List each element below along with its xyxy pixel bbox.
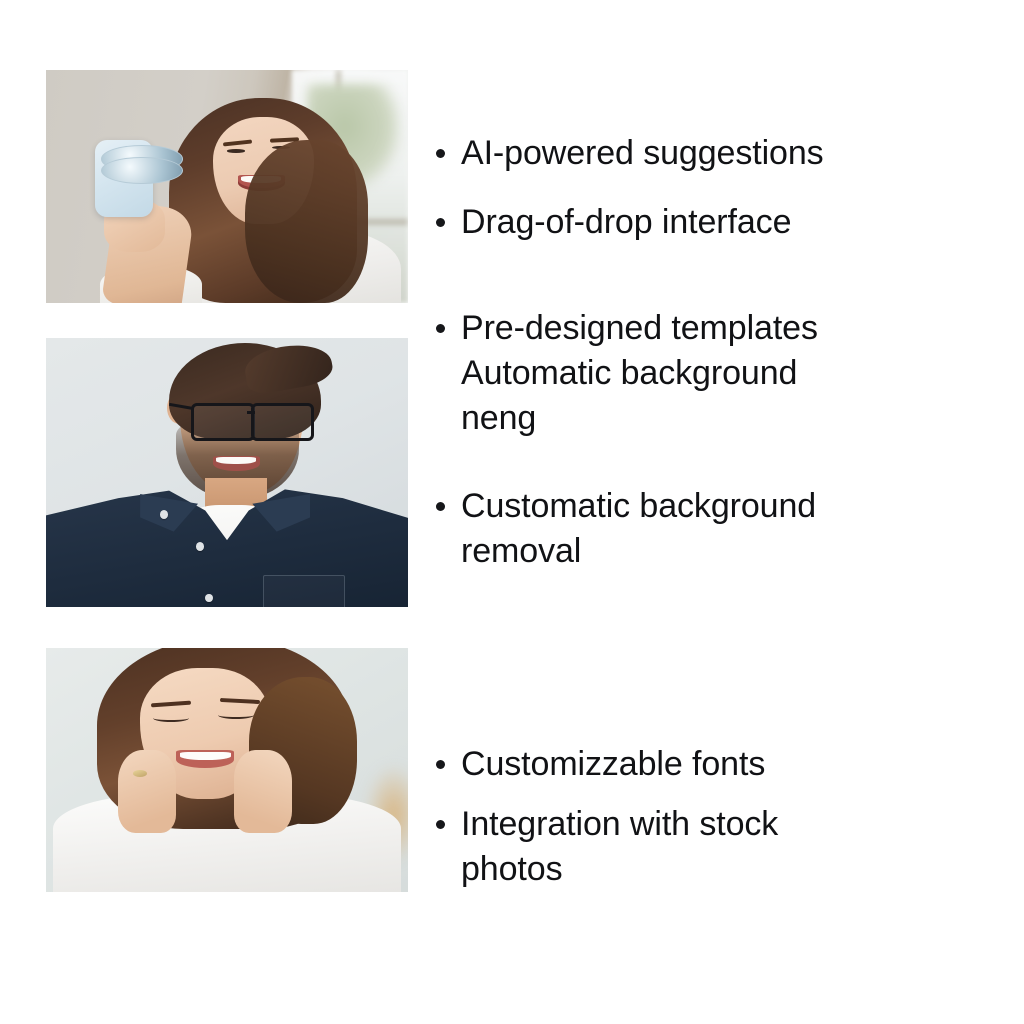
glasses-lens-left [191, 403, 255, 441]
photo-woman-hands-on-face [46, 648, 408, 892]
bullet-marker-icon [436, 820, 445, 829]
hand-left [118, 750, 176, 833]
feature-bullet-ai-powered-suggestions: AI-powered suggestions [436, 131, 976, 176]
eye-left [227, 149, 245, 152]
bullet-marker-icon [436, 324, 445, 333]
glasses-lens-right [251, 403, 315, 441]
teeth [180, 752, 231, 760]
feature-bullet-drag-of-drop-interface: Drag-of-drop interface [436, 200, 976, 245]
hand-right [234, 750, 292, 833]
feature-bullet-pre-designed-templates: Pre-designed templates Automatic backgro… [436, 306, 976, 441]
feature-line: Customizzable fonts [461, 742, 976, 787]
feature-line: neng [461, 396, 976, 441]
slide-canvas: AI-powered suggestions Drag-of-drop inte… [0, 0, 1024, 1024]
feature-text: Drag-of-drop interface [461, 200, 976, 245]
glasses-bridge [247, 411, 255, 414]
feature-line: Customatic background [461, 484, 976, 529]
feature-text: Customatic background removal [461, 484, 976, 574]
phone-camera-lens-bottom [101, 157, 183, 185]
photo-1-scene [46, 70, 408, 303]
feature-line: AI-powered suggestions [461, 131, 976, 176]
feature-bullet-integration-with-stock-photos: Integration with stock photos [436, 802, 976, 892]
feature-line: Integration with stock [461, 802, 976, 847]
feature-text: Pre-designed templates Automatic backgro… [461, 306, 976, 441]
photo-man-with-glasses [46, 338, 408, 607]
feature-line: Drag-of-drop interface [461, 200, 976, 245]
feature-line: Pre-designed templates [461, 306, 976, 351]
feature-line: removal [461, 529, 976, 574]
feature-line: Automatic background [461, 351, 976, 396]
shirt-pocket [263, 575, 345, 607]
feature-bullet-customatic-background-removal: Customatic background removal [436, 484, 976, 574]
feature-text: Integration with stock photos [461, 802, 976, 892]
bullet-marker-icon [436, 149, 445, 158]
bullet-marker-icon [436, 218, 445, 227]
shirt-button-top [160, 510, 168, 519]
feature-line: photos [461, 847, 976, 892]
bullet-marker-icon [436, 760, 445, 769]
feature-bullet-customizzable-fonts: Customizzable fonts [436, 742, 976, 787]
photo-2-scene [46, 338, 408, 607]
feature-text: Customizzable fonts [461, 742, 976, 787]
closed-eye-left [153, 714, 189, 722]
photo-3-scene [46, 648, 408, 892]
hair-strands-front [245, 140, 368, 303]
bullet-marker-icon [436, 502, 445, 511]
photo-woman-with-smartphone [46, 70, 408, 303]
feature-text: AI-powered suggestions [461, 131, 976, 176]
